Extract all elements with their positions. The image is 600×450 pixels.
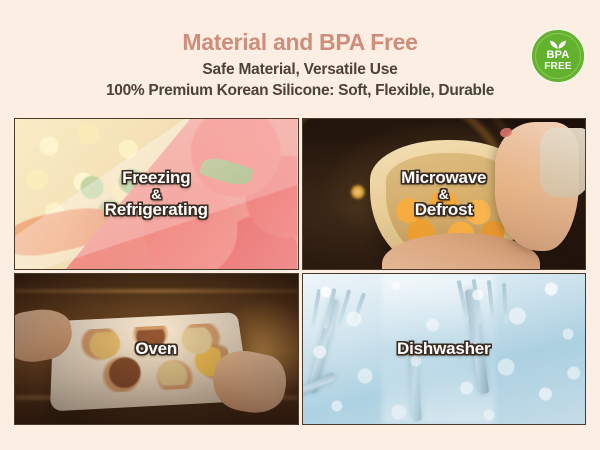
- subtitle-line-2: 100% Premium Korean Silicone: Soft, Flex…: [0, 81, 600, 101]
- panel-microwave-label-line-1: Microwave: [401, 168, 486, 187]
- panel-microwave-label-line-3: Defrost: [415, 200, 473, 219]
- bpa-badge-line-2: FREE: [544, 61, 571, 72]
- bpa-free-badge: BPA FREE: [530, 28, 586, 84]
- panel-microwave-label: Microwave & Defrost: [401, 169, 486, 220]
- panel-oven-label-line-1: Oven: [135, 339, 177, 358]
- leaf-icon: [549, 40, 567, 49]
- panel-oven: Oven: [14, 273, 299, 425]
- header-section: Material and BPA Free Safe Material, Ver…: [0, 0, 600, 116]
- panel-oven-label: Oven: [135, 340, 177, 358]
- panel-dishwasher-label-line-1: Dishwasher: [397, 339, 490, 358]
- feature-panel-grid: Freezing & Refrigerating: [14, 118, 586, 425]
- bpa-badge-line-1: BPA: [546, 49, 569, 61]
- panel-freezing-label-line-2: &: [105, 187, 208, 201]
- bpa-badge-text: BPA FREE: [544, 50, 571, 72]
- panel-dishwasher: Dishwasher: [302, 273, 587, 425]
- panel-microwave-label-line-2: &: [401, 187, 486, 201]
- panel-microwave: Microwave & Defrost: [302, 118, 587, 270]
- page-title: Material and BPA Free: [0, 28, 600, 56]
- panel-freezing-label-line-1: Freezing: [122, 168, 190, 187]
- product-infographic: Material and BPA Free Safe Material, Ver…: [0, 0, 600, 450]
- panel-freezing-label: Freezing & Refrigerating: [105, 169, 208, 220]
- panel-freezing: Freezing & Refrigerating: [14, 118, 299, 270]
- subtitle-line-1: Safe Material, Versatile Use: [0, 60, 600, 80]
- panel-dishwasher-label: Dishwasher: [397, 340, 490, 358]
- panel-freezing-label-line-3: Refrigerating: [105, 200, 208, 219]
